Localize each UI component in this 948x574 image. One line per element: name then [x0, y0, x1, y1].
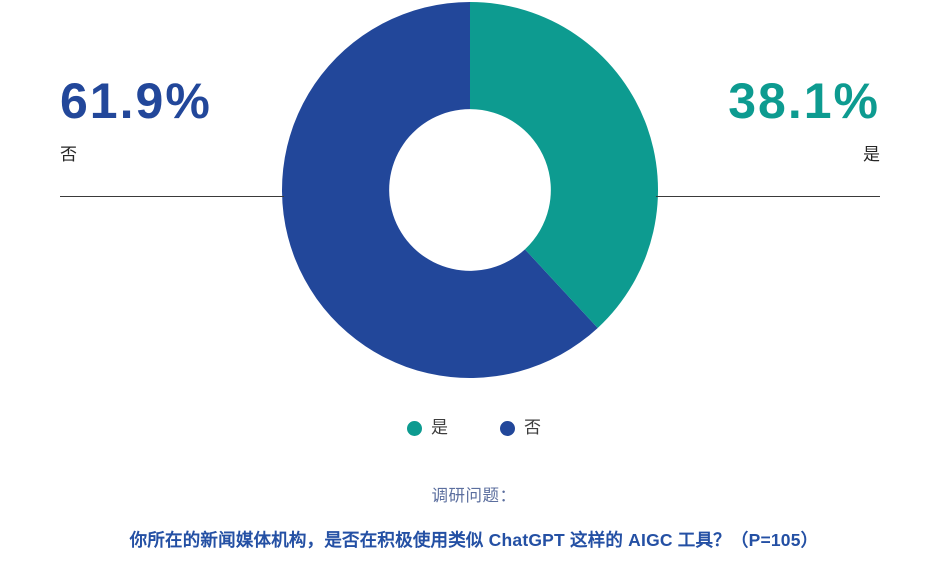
legend-swatch-icon-no [500, 421, 515, 436]
callout-yes: 38.1% 是 [550, 72, 880, 166]
callout-no: 61.9% 否 [60, 72, 390, 166]
legend-swatch-icon-yes [407, 421, 422, 436]
caption-lead-text: 调研问题： [0, 484, 948, 508]
callout-yes-label: 是 [550, 144, 880, 166]
leader-line-no [60, 196, 284, 197]
leader-line-yes [656, 196, 880, 197]
callout-no-label: 否 [60, 144, 390, 166]
legend-label-no: 否 [524, 418, 541, 438]
legend: 是 否 [0, 418, 948, 438]
caption-question-text: 你所在的新闻媒体机构，是否在积极使用类似 ChatGPT 这样的 AIGC 工具… [0, 527, 948, 553]
donut-svg [282, 2, 658, 378]
caption: 调研问题： 你所在的新闻媒体机构，是否在积极使用类似 ChatGPT 这样的 A… [0, 484, 948, 553]
legend-label-yes: 是 [431, 418, 448, 438]
donut-chart [282, 2, 658, 378]
legend-item-yes[interactable]: 是 [407, 418, 448, 438]
callout-yes-percent: 38.1% [550, 72, 880, 130]
legend-item-no[interactable]: 否 [500, 418, 541, 438]
callout-no-percent: 61.9% [60, 72, 390, 130]
donut-chart-figure: 61.9% 否 38.1% 是 是 否 调研问题： 你所在的新闻媒体机构，是否在… [0, 0, 948, 574]
donut-center-hole [390, 110, 550, 270]
